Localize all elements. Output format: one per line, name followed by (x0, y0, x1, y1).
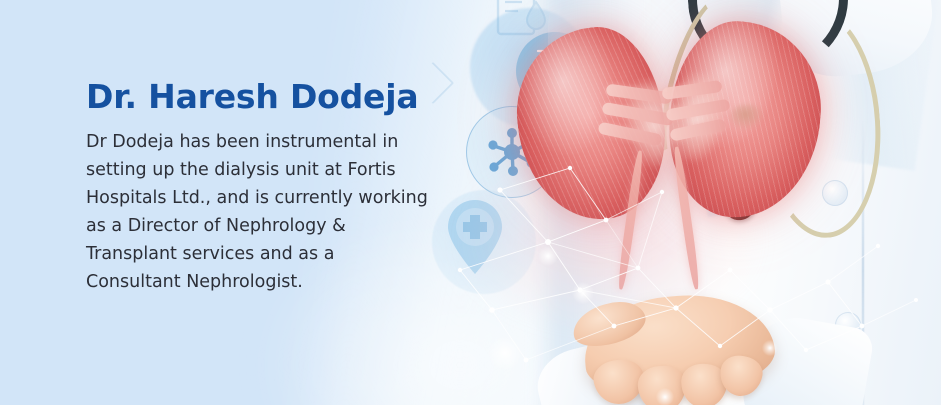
doctor-photo (430, 0, 941, 405)
network-glow-node (488, 336, 522, 370)
doctor-bio: Dr Dodeja has been instrumental in setti… (86, 128, 434, 296)
open-hand (550, 290, 810, 405)
doctor-profile-banner: Dr. Haresh Dodeja Dr Dodeja has been ins… (0, 0, 941, 405)
finger (637, 365, 687, 405)
kidney-shading-spot (730, 104, 764, 130)
text-block: Dr. Haresh Dodeja Dr Dodeja has been ins… (86, 80, 436, 296)
doctor-name: Dr. Haresh Dodeja (86, 80, 436, 115)
